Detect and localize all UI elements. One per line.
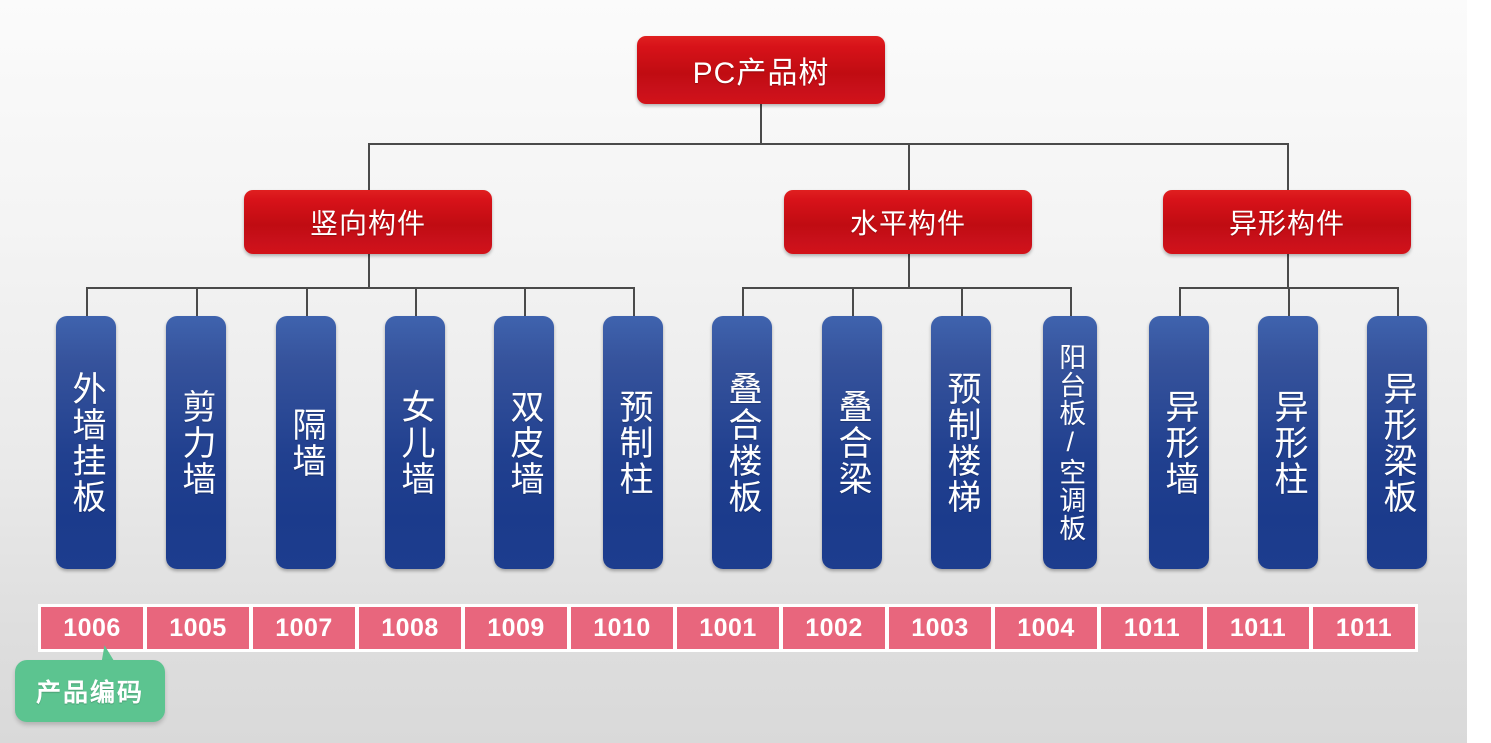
leaf-label: 叠合楼板	[724, 371, 760, 515]
product-code-cell[interactable]: 1008	[359, 607, 461, 649]
connector-leaf-drop-11	[1288, 287, 1290, 317]
connector-group-0-bus	[86, 287, 634, 289]
product-code-cell[interactable]: 1001	[677, 607, 779, 649]
connector-group-0-stem	[368, 254, 370, 288]
connector-leaf-drop-3	[415, 287, 417, 317]
leaf-node[interactable]: 叠合楼板	[712, 316, 772, 569]
leaf-label: 叠合梁	[834, 389, 870, 497]
connector-group-1-bus	[742, 287, 1072, 289]
node-group-vertical[interactable]: 竖向构件	[244, 190, 492, 254]
connector-drop-group-1	[908, 143, 910, 191]
connector-leaf-drop-6	[742, 287, 744, 317]
node-group-special-label: 异形构件	[1229, 202, 1345, 242]
product-code-cell[interactable]: 1003	[889, 607, 991, 649]
connector-leaf-drop-9	[1070, 287, 1072, 317]
node-group-horizontal-label: 水平构件	[850, 202, 966, 242]
leaf-label: 女儿墙	[397, 389, 433, 497]
product-code-cell[interactable]: 1011	[1101, 607, 1203, 649]
leaf-node[interactable]: 隔墙	[276, 316, 336, 569]
connector-level2-bus	[368, 143, 1288, 145]
connector-leaf-drop-12	[1397, 287, 1399, 317]
node-group-vertical-label: 竖向构件	[310, 202, 426, 242]
connector-leaf-drop-7	[852, 287, 854, 317]
leaf-node[interactable]: 叠合梁	[822, 316, 882, 569]
leaf-node[interactable]: 外墙挂板	[56, 316, 116, 569]
connector-leaf-drop-0	[86, 287, 88, 317]
product-code-row: 1006 1005 1007 1008 1009 1010 1001 1002 …	[38, 604, 1418, 652]
product-code-cell[interactable]: 1006	[41, 607, 143, 649]
product-code-cell[interactable]: 1002	[783, 607, 885, 649]
product-code-cell[interactable]: 1011	[1207, 607, 1309, 649]
connector-group-2-stem	[1287, 254, 1289, 288]
product-code-cell[interactable]: 1009	[465, 607, 567, 649]
leaf-node[interactable]: 预制楼梯	[931, 316, 991, 569]
product-code-callout[interactable]: 产品编码	[15, 660, 165, 722]
product-code-cell[interactable]: 1005	[147, 607, 249, 649]
product-code-cell[interactable]: 1011	[1313, 607, 1415, 649]
connector-root-stem	[760, 104, 762, 144]
node-root[interactable]: PC产品树	[637, 36, 885, 104]
leaf-label: 剪力墙	[178, 389, 214, 497]
diagram-canvas: PC产品树 竖向构件 水平构件 异形构件 外墙挂板 剪力墙 隔墙 女儿墙 双皮墙…	[0, 0, 1491, 743]
leaf-label: 阳台板/空调板	[1056, 343, 1085, 542]
connector-group-1-stem	[908, 254, 910, 288]
leaf-label: 隔墙	[288, 407, 324, 479]
leaf-node[interactable]: 预制柱	[603, 316, 663, 569]
leaf-node[interactable]: 女儿墙	[385, 316, 445, 569]
leaf-label: 异形柱	[1270, 389, 1306, 497]
connector-drop-group-2	[1287, 143, 1289, 191]
node-root-label: PC产品树	[693, 48, 830, 92]
product-code-cell[interactable]: 1010	[571, 607, 673, 649]
leaf-label: 异形梁板	[1379, 371, 1415, 515]
node-group-special[interactable]: 异形构件	[1163, 190, 1411, 254]
leaf-node[interactable]: 异形梁板	[1367, 316, 1427, 569]
leaf-node[interactable]: 阳台板/空调板	[1043, 316, 1097, 569]
connector-leaf-drop-5	[633, 287, 635, 317]
connector-leaf-drop-4	[524, 287, 526, 317]
connector-leaf-drop-8	[961, 287, 963, 317]
leaf-label: 预制柱	[615, 389, 651, 497]
leaf-label: 外墙挂板	[68, 371, 104, 515]
connector-drop-group-0	[368, 143, 370, 191]
leaf-node[interactable]: 双皮墙	[494, 316, 554, 569]
connector-leaf-drop-10	[1179, 287, 1181, 317]
leaf-label: 双皮墙	[506, 389, 542, 497]
product-code-cell[interactable]: 1007	[253, 607, 355, 649]
leaf-label: 预制楼梯	[943, 371, 979, 515]
leaf-node[interactable]: 异形墙	[1149, 316, 1209, 569]
product-code-cell[interactable]: 1004	[995, 607, 1097, 649]
canvas-right-margin	[1467, 0, 1491, 743]
connector-leaf-drop-2	[306, 287, 308, 317]
node-group-horizontal[interactable]: 水平构件	[784, 190, 1032, 254]
leaf-node[interactable]: 剪力墙	[166, 316, 226, 569]
leaf-label: 异形墙	[1161, 389, 1197, 497]
connector-leaf-drop-1	[196, 287, 198, 317]
product-code-callout-label: 产品编码	[36, 673, 144, 709]
leaf-node[interactable]: 异形柱	[1258, 316, 1318, 569]
